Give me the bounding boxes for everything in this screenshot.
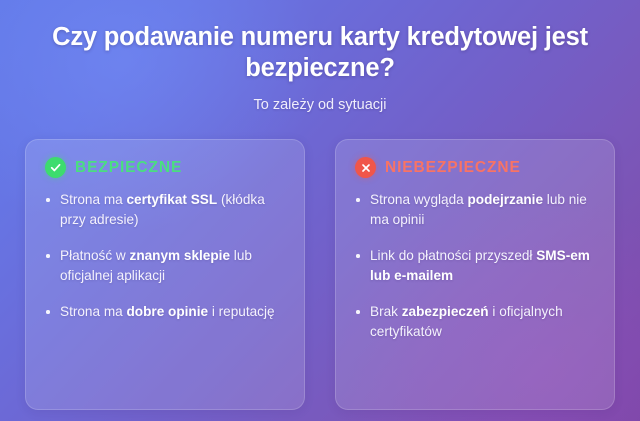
list-item: Płatność w znanym sklepie lub oficjalnej… bbox=[43, 246, 287, 285]
bullet-text-plain: Strona ma bbox=[60, 192, 127, 207]
card-danger-title: NIEBEZPIECZNE bbox=[385, 159, 521, 177]
bullet-text-bold: zabezpieczeń bbox=[402, 304, 489, 319]
bullet-text-plain: Link do płatności przyszedł bbox=[370, 248, 536, 263]
bullet-text-plain: Brak bbox=[370, 304, 402, 319]
bullet-text-bold: podejrzanie bbox=[467, 192, 543, 207]
card-danger-bullet-list: Strona wygląda podejrzanie lub nie ma op… bbox=[353, 190, 597, 341]
card-safe: BEZPIECZNE Strona ma certyfikat SSL (kłó… bbox=[25, 139, 305, 410]
bullet-text-plain: i reputację bbox=[208, 304, 275, 319]
page-title: Czy podawanie numeru karty kredytowej je… bbox=[42, 22, 598, 84]
list-item: Strona wygląda podejrzanie lub nie ma op… bbox=[353, 190, 597, 229]
list-item: Strona ma dobre opinie i reputację bbox=[43, 302, 287, 322]
card-safe-bullet-list: Strona ma certyfikat SSL (kłódka przy ad… bbox=[43, 190, 287, 322]
card-safe-title: BEZPIECZNE bbox=[75, 159, 182, 177]
header: Czy podawanie numeru karty kredytowej je… bbox=[0, 0, 640, 114]
bullet-text-bold: certyfikat SSL bbox=[127, 192, 218, 207]
card-danger-header: NIEBEZPIECZNE bbox=[355, 157, 597, 178]
bullet-text-plain: Strona ma bbox=[60, 304, 127, 319]
list-item: Link do płatności przyszedł SMS-em lub e… bbox=[353, 246, 597, 285]
bullet-text-bold: znanym sklepie bbox=[130, 248, 231, 263]
card-safe-header: BEZPIECZNE bbox=[45, 157, 287, 178]
bullet-text-plain: Strona wygląda bbox=[370, 192, 467, 207]
x-circle-icon bbox=[355, 157, 376, 178]
check-circle-icon bbox=[45, 157, 66, 178]
infographic-slide: Czy podawanie numeru karty kredytowej je… bbox=[0, 0, 640, 421]
list-item: Strona ma certyfikat SSL (kłódka przy ad… bbox=[43, 190, 287, 229]
list-item: Brak zabezpieczeń i oficjalnych certyfik… bbox=[353, 302, 597, 341]
comparison-cards: BEZPIECZNE Strona ma certyfikat SSL (kłó… bbox=[0, 114, 640, 410]
page-subtitle: To zależy od sytuacji bbox=[42, 96, 598, 114]
bullet-text-bold: dobre opinie bbox=[127, 304, 209, 319]
card-danger: NIEBEZPIECZNE Strona wygląda podejrzanie… bbox=[335, 139, 615, 410]
bullet-text-plain: Płatność w bbox=[60, 248, 130, 263]
